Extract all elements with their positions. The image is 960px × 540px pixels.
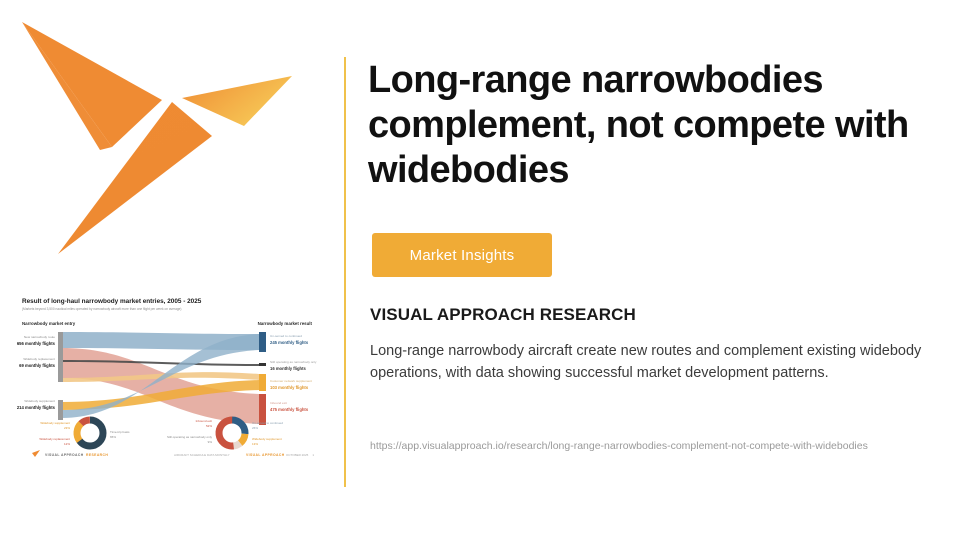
left-node-2-label: Widebody supplement — [24, 399, 55, 403]
donut-right-value-0: 52% — [206, 424, 212, 428]
left-node-1-value: 69 monthly flights — [19, 363, 56, 368]
right-node-1-value: 16 monthly flights — [270, 366, 307, 371]
left-panel: Result of long-haul narrowbody market en… — [0, 0, 344, 540]
donut-right-label-1: Un-served to continued — [252, 421, 283, 425]
donut-left-value-1: 23% — [64, 426, 70, 430]
donut-right-label-3: Still operating as narrowbody only — [167, 435, 213, 439]
sankey-left-nodes — [58, 332, 63, 420]
source-name: VISUAL APPROACH RESEARCH — [370, 305, 636, 325]
right-node-1-label: Still operating as narrowbody only — [270, 360, 317, 364]
chart-left-column-header: Narrowbody market entry — [22, 321, 76, 326]
left-node-2-value: 214 monthly flights — [17, 405, 56, 410]
right-panel: Long-range narrowbodies complement, not … — [368, 0, 934, 540]
chart-subtitle: (Markets beyond 3,500 nautical miles ope… — [22, 307, 181, 311]
research-chart-thumbnail[interactable]: Result of long-haul narrowbody market en… — [14, 290, 320, 462]
right-node-0-label: Un-served to continued — [270, 334, 302, 338]
right-node-3-value: 475 monthly flights — [270, 407, 309, 412]
donut-left-value-0: 65% — [110, 435, 116, 439]
donut-right-value-1: 26% — [252, 426, 258, 430]
left-node-1-label: Widebody replacement — [23, 357, 55, 361]
right-node-0-value: 245 monthly flights — [270, 340, 309, 345]
chart-footer-brand-accent: RESEARCH — [86, 453, 108, 457]
article-description: Long-range narrowbody aircraft create ne… — [370, 340, 926, 385]
category-badge-button[interactable]: Market Insights — [372, 233, 552, 277]
left-node-0-value: 656 monthly flights — [17, 341, 56, 346]
donut-left-label-1: Widebody supplement — [40, 421, 70, 425]
right-node-3-label: Inbound exit — [270, 401, 287, 405]
visual-approach-bird-logo — [22, 14, 312, 272]
left-node-0-label: New narrowbody route — [24, 335, 55, 339]
right-node-2-value: 103 monthly flights — [270, 385, 309, 390]
donut-left-label-0: Time-trip basis — [110, 430, 130, 434]
donut-right-label-2: Widebody supplement — [252, 437, 282, 441]
donut-right-value-2: 13% — [252, 442, 258, 446]
donut-right-value-3: 9% — [208, 440, 213, 444]
vertical-divider — [344, 57, 346, 487]
sankey-right-nodes — [259, 332, 266, 425]
source-url-link[interactable]: https://app.visualapproach.io/research/l… — [370, 440, 930, 452]
donut-left-label-2: Widebody replacement — [39, 437, 70, 441]
chart-right-column-header: Narrowbody market result — [258, 321, 313, 326]
chart-footer-date: OCTOBER 2025 — [286, 453, 309, 457]
chart-footer-brand: VISUAL APPROACH — [45, 453, 84, 457]
slide-canvas: Result of long-haul narrowbody market en… — [0, 0, 960, 540]
right-node-2-label: Customer network supplement — [270, 379, 312, 383]
page-title: Long-range narrowbodies complement, not … — [368, 58, 928, 192]
chart-footer-source: AIRCRAFT SCHEDULE DATA MONTHLY — [174, 453, 230, 457]
chart-footer-source-accent: VISUAL APPROACH — [246, 453, 285, 457]
donut-left-value-2: 12% — [64, 442, 70, 446]
chart-title: Result of long-haul narrowbody market en… — [22, 298, 202, 305]
donut-right-label-0: Inbound exit — [196, 419, 213, 423]
